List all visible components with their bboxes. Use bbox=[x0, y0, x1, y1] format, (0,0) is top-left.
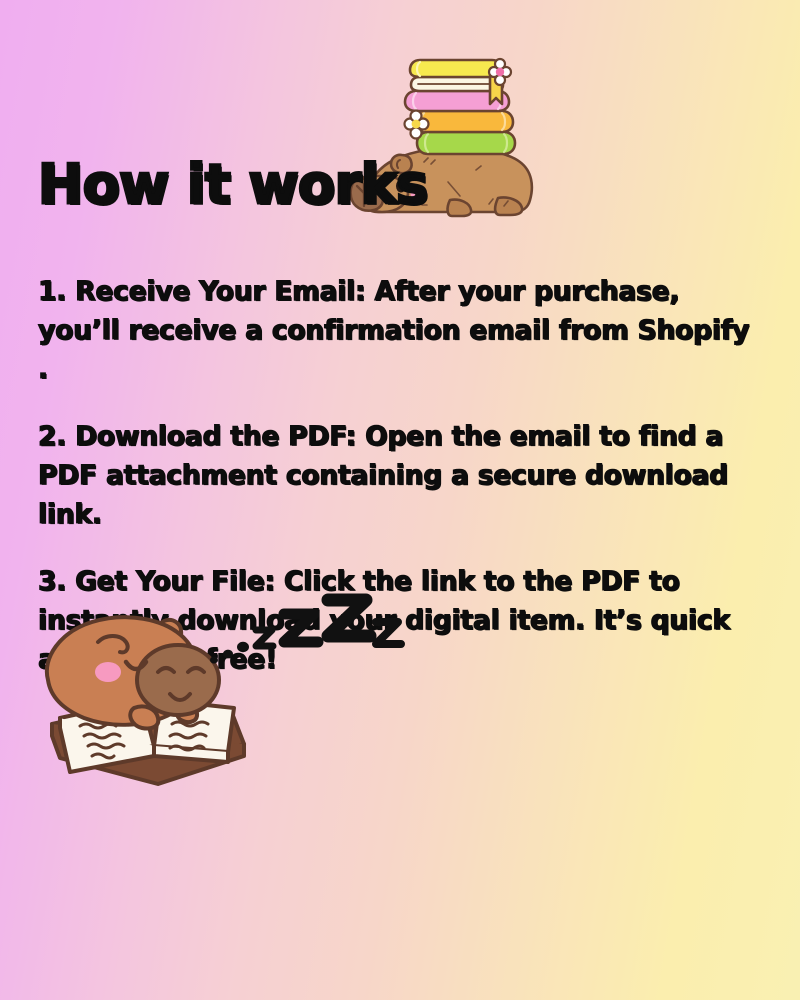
step-item-1: 1. Receive Your Email: After your purcha… bbox=[38, 272, 762, 389]
page-title: How it works bbox=[38, 158, 428, 212]
sleep-zzz-glyphs bbox=[208, 592, 418, 682]
sleeping-capybara-body bbox=[47, 617, 219, 728]
step-item-2: 2. Download the PDF: Open the email to f… bbox=[38, 417, 762, 534]
poster-canvas: How it works 1. Receive Your Email: Afte… bbox=[0, 0, 800, 1000]
